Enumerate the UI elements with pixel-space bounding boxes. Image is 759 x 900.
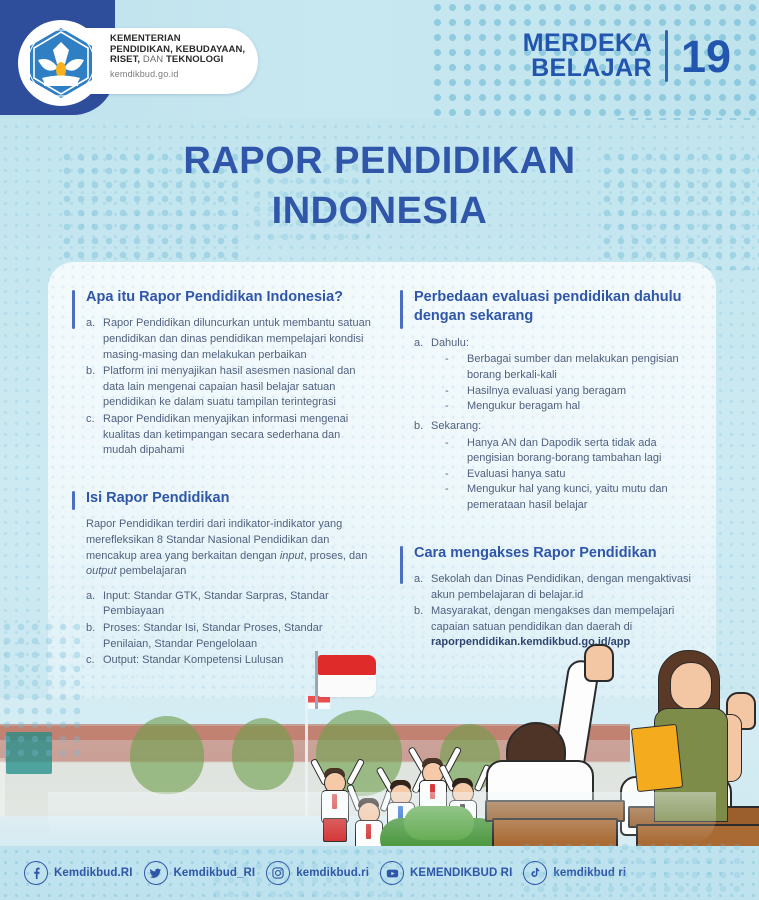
merdeka-belajar-lines: MERDEKA BELAJAR	[523, 31, 652, 81]
what-is-list: a.Rapor Pendidikan diluncurkan untuk mem…	[86, 316, 372, 458]
dash-marker: -	[445, 384, 449, 400]
group-label: Dahulu:	[431, 337, 469, 349]
teacher-book	[631, 724, 683, 792]
isi-lead-3: pembelajaran	[117, 565, 187, 577]
perbedaan-list: a.Dahulu: -Berbagai sumber dan melakukan…	[414, 336, 700, 514]
list-text: Rapor Pendidikan diluncurkan untuk memba…	[103, 317, 371, 360]
list-item: c.Rapor Pendidikan menyajikan informasi …	[86, 412, 372, 459]
isi-lead-em-input: input	[280, 550, 304, 562]
teacher-figure	[636, 648, 746, 818]
dash-marker: -	[445, 352, 449, 368]
teacher-face	[670, 662, 712, 710]
merdeka-label: MERDEKA	[523, 31, 652, 56]
section-heading-perbedaan: Perbedaan evaluasi pendidikan dahulu den…	[400, 288, 700, 327]
list-marker: b.	[86, 364, 100, 380]
section-body-what-is: a.Rapor Pendidikan diluncurkan untuk mem…	[72, 316, 372, 458]
list-marker: c.	[86, 412, 100, 428]
dash-marker: -	[445, 482, 449, 498]
list-marker: b.	[414, 604, 428, 620]
poster-root: KEMENTERIAN PENDIDIKAN, KEBUDAYAAN, RISE…	[0, 0, 759, 900]
sub-list-text: Mengukur beragam hal	[467, 400, 580, 412]
facebook-icon[interactable]	[24, 861, 48, 885]
student-arm	[346, 758, 365, 786]
student-tie	[430, 784, 435, 799]
sub-list-text: Evaluasi hanya satu	[467, 468, 565, 480]
list-marker: b.	[86, 621, 100, 637]
list-item: a.Rapor Pendidikan diluncurkan untuk mem…	[86, 316, 372, 363]
section-what-is-rapor: Apa itu Rapor Pendidikan Indonesia? a.Ra…	[72, 288, 372, 459]
section-heading-cara-mengakses: Cara mengakses Rapor Pendidikan	[400, 544, 700, 563]
group-label: Sekarang:	[431, 420, 481, 432]
list-text: Platform ini menyajikan hasil asesmen na…	[103, 365, 356, 408]
tut-wuri-handayani-emblem	[20, 22, 102, 104]
list-item: b.Sekarang: -Hanya AN dan Dapodik serta …	[414, 419, 700, 514]
sub-list-item: -Mengukur hal yang kunci, yaitu mutu dan…	[431, 482, 700, 513]
dot-cluster	[210, 845, 410, 900]
list-text: Rapor Pendidikan menyajikan informasi me…	[103, 413, 348, 456]
social-handle[interactable]: Kemdikbud.RI	[54, 867, 133, 879]
student-hand	[584, 644, 614, 682]
sub-list-item: -Berbagai sumber dan melakukan pengisian…	[431, 352, 700, 383]
list-marker: a.	[86, 316, 100, 332]
indonesian-flag	[318, 655, 376, 697]
list-text: Sekolah dan Dinas Pendidikan, dengan men…	[431, 573, 691, 601]
merdeka-belajar-badge: MERDEKA BELAJAR 19	[523, 30, 731, 82]
twitter-icon[interactable]	[144, 861, 168, 885]
ministry-logo-text: KEMENTERIAN PENDIDIKAN, KEBUDAYAAN, RISE…	[110, 34, 260, 79]
section-cara-mengakses: Cara mengakses Rapor Pendidikan a.Sekola…	[400, 544, 700, 651]
dahulu-sublist: -Berbagai sumber dan melakukan pengisian…	[431, 352, 700, 414]
belajar-label: BELAJAR	[523, 56, 652, 81]
flag-red-band	[318, 655, 376, 675]
list-text: Input: Standar GTK, Standar Sarpras, Sta…	[103, 590, 329, 618]
dash-marker: -	[445, 436, 449, 452]
poster-header: KEMENTERIAN PENDIDIKAN, KEBUDAYAAN, RISE…	[0, 0, 759, 118]
isi-lead-em-output: output	[86, 565, 117, 577]
list-item: a.Input: Standar GTK, Standar Sarpras, S…	[86, 589, 372, 620]
dot-cluster	[520, 840, 740, 900]
student-tie	[366, 824, 371, 839]
social-facebook[interactable]: Kemdikbud.RI	[24, 861, 133, 885]
left-column: Apa itu Rapor Pendidikan Indonesia? a.Ra…	[72, 288, 372, 691]
isi-lead-paragraph: Rapor Pendidikan terdiri dari indikator-…	[86, 517, 372, 579]
student-shorts	[323, 818, 347, 842]
dot-cluster	[0, 620, 80, 760]
section-body-perbedaan: a.Dahulu: -Berbagai sumber dan melakukan…	[400, 336, 700, 514]
ministry-website-url: kemdikbud.go.id	[110, 69, 260, 79]
list-marker: a.	[86, 589, 100, 605]
list-marker: a.	[414, 572, 428, 588]
ministry-line-3c: TEKNOLOGI	[166, 54, 223, 65]
page-title-line-2: INDONESIA	[0, 186, 759, 236]
dash-marker: -	[445, 399, 449, 415]
badge-divider	[665, 30, 668, 82]
section-heading-what-is: Apa itu Rapor Pendidikan Indonesia?	[72, 288, 372, 307]
background-flag	[308, 696, 330, 709]
page-title: RAPOR PENDIDIKAN INDONESIA	[0, 136, 759, 236]
sub-list-text: Berbagai sumber dan melakukan pengisian …	[467, 353, 679, 381]
tree	[130, 716, 204, 794]
dash-marker: -	[445, 467, 449, 483]
ministry-line-3b: DAN	[140, 54, 166, 65]
student-tie	[332, 794, 337, 809]
sub-list-item: -Mengukur beragam hal	[431, 399, 700, 415]
social-handle[interactable]: KEMENDIKBUD RI	[410, 867, 512, 879]
right-column: Perbedaan evaluasi pendidikan dahulu den…	[400, 288, 700, 673]
sub-list-text: Hasilnya evaluasi yang beragam	[467, 385, 626, 397]
sub-list-item: -Evaluasi hanya satu	[431, 467, 700, 483]
list-item: b.Platform ini menyajikan hasil asesmen …	[86, 364, 372, 411]
sekarang-sublist: -Hanya AN dan Dapodik serta tidak ada pe…	[431, 436, 700, 514]
flag-white-band	[318, 675, 376, 697]
episode-number: 19	[681, 34, 731, 79]
list-marker: b.	[414, 419, 428, 435]
tree	[232, 718, 294, 790]
page-title-line-1: RAPOR PENDIDIKAN	[0, 136, 759, 186]
list-text: Masyarakat, dengan mengakses dan mempela…	[431, 605, 674, 633]
list-marker: a.	[414, 336, 428, 352]
list-item: a.Dahulu: -Berbagai sumber dan melakukan…	[414, 336, 700, 415]
section-perbedaan-evaluasi: Perbedaan evaluasi pendidikan dahulu den…	[400, 288, 700, 514]
ministry-line-3a: RISET,	[110, 54, 140, 65]
ministry-line-3: RISET, DAN TEKNOLOGI	[110, 55, 260, 66]
section-heading-isi: Isi Rapor Pendidikan	[72, 489, 372, 508]
isi-lead-2: , proses, dan	[304, 550, 368, 562]
sub-list-item: -Hasilnya evaluasi yang beragam	[431, 384, 700, 400]
foreground-bush	[404, 806, 474, 840]
sub-list-text: Mengukur hal yang kunci, yaitu mutu dan …	[467, 483, 668, 511]
sub-list-text: Hanya AN dan Dapodik serta tidak ada pen…	[467, 437, 661, 465]
list-item: a.Sekolah dan Dinas Pendidikan, dengan m…	[414, 572, 700, 603]
flag-pole	[305, 692, 308, 822]
sub-list-item: -Hanya AN dan Dapodik serta tidak ada pe…	[431, 436, 700, 467]
